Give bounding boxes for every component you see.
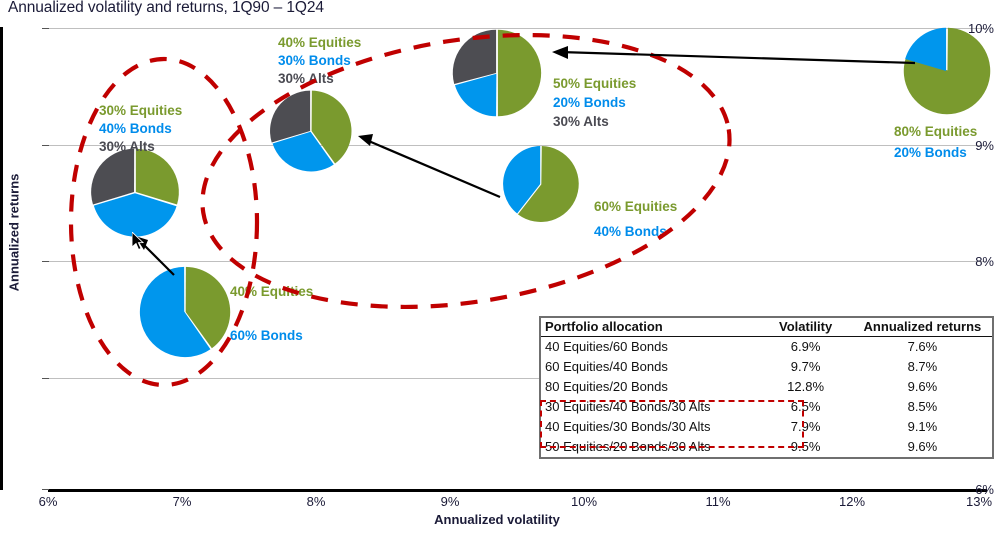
cell-returns: 8.7% [853,357,992,377]
arrow-to-50-20-30-pie [552,46,915,63]
cell-volatility: 9.5% [758,437,852,457]
y-axis-line [0,27,3,490]
cell-returns: 9.6% [853,437,992,457]
pie-50-20-30-label-bonds: 20% Bonds [553,94,626,113]
pie-40-30-30-label-bonds: 30% Bonds [278,52,351,71]
x-axis-line [48,489,987,492]
chart-root: Annualized volatility and returns, 1Q90 … [0,0,994,537]
pie-svg [501,144,581,224]
x-tick-label-6pct: 6% [39,494,58,509]
pie-30-equities-40-bonds-30-alts[interactable] [88,145,182,239]
y-tick-8pct [42,261,49,262]
pie-svg [88,145,182,239]
cell-allocation: 40 Equities/30 Bonds/30 Alts [541,417,758,437]
pie-80-20-label-bonds: 20% Bonds [894,144,967,163]
allocation-table: Portfolio allocation Volatility Annualiz… [541,318,992,457]
mouse-cursor [132,232,146,252]
table-row[interactable]: 60 Equities/40 Bonds 9.7% 8.7% [541,357,992,377]
x-tick-label-13pct: 13% [966,494,992,509]
pie-80-equities-20-bonds[interactable] [901,25,993,117]
x-tick-label-9pct: 9% [441,494,460,509]
pie-30-40-30-label-equities: 30% Equities [99,102,182,121]
table-row[interactable]: 30 Equities/40 Bonds/30 Alts 6.5% 8.5% [541,397,992,417]
pie-40-60-label-equities: 40% Equities [230,283,313,302]
table-header-row: Portfolio allocation Volatility Annualiz… [541,318,992,337]
table-body: 40 Equities/60 Bonds 6.9% 7.6% 60 Equiti… [541,337,992,457]
x-axis-title: Annualized volatility [0,512,994,527]
pie-40-30-30-label-equities: 40% Equities [278,34,361,53]
pie-50-equities-20-bonds-30-alts[interactable] [451,27,543,119]
cell-volatility: 12.8% [758,377,852,397]
table-header: Portfolio allocation Volatility Annualiz… [541,318,992,337]
pie-30-40-30-label-alts: 30% Alts [99,138,155,157]
pie-60-40-label-equities: 60% Equities [594,198,677,217]
pie-60-40-label-bonds: 40% Bonds [594,223,667,242]
cell-allocation: 50 Equities/20 Bonds/30 Alts [541,437,758,457]
slice-equities [498,30,541,116]
table-row[interactable]: 50 Equities/20 Bonds/30 Alts 9.5% 9.6% [541,437,992,457]
cell-returns: 7.6% [853,337,992,357]
pie-40-60-label-bonds: 60% Bonds [230,327,303,346]
pie-40-30-30-label-alts: 30% Alts [278,70,334,89]
pie-80-20-label-equities: 80% Equities [894,123,977,142]
pie-svg [451,27,543,119]
cell-volatility: 9.7% [758,357,852,377]
cell-returns: 9.6% [853,377,992,397]
y-tick-9pct [42,145,49,146]
y-axis-title: Annualized returns [7,123,22,343]
portfolio-allocation-table: Portfolio allocation Volatility Annualiz… [539,316,994,459]
table-row[interactable]: 40 Equities/30 Bonds/30 Alts 7.9% 9.1% [541,417,992,437]
cell-allocation: 60 Equities/40 Bonds [541,357,758,377]
x-tick-label-10pct: 10% [571,494,597,509]
cell-allocation: 30 Equities/40 Bonds/30 Alts [541,397,758,417]
pie-svg [268,88,354,174]
pie-50-20-30-label-equities: 50% Equities [553,75,636,94]
x-tick-label-7pct: 7% [173,494,192,509]
pie-60-equities-40-bonds[interactable] [501,144,581,224]
cell-returns: 8.5% [853,397,992,417]
pie-40-equities-30-bonds-30-alts[interactable] [268,88,354,174]
pie-svg [901,25,993,117]
col-header-allocation: Portfolio allocation [541,318,758,337]
cell-returns: 9.1% [853,417,992,437]
cell-volatility: 7.9% [758,417,852,437]
cell-allocation: 40 Equities/60 Bonds [541,337,758,357]
x-tick-label-11pct: 11% [705,494,730,509]
pie-40-equities-60-bonds[interactable] [137,264,233,360]
pie-30-40-30-label-bonds: 40% Bonds [99,120,172,139]
col-header-returns: Annualized returns [853,318,992,337]
table-row[interactable]: 80 Equities/20 Bonds 12.8% 9.6% [541,377,992,397]
cell-volatility: 6.5% [758,397,852,417]
gridline-8pct [48,261,986,262]
y-tick-label-8pct: 8% [950,254,994,269]
chart-title: Annualized volatility and returns, 1Q90 … [8,0,324,17]
y-tick-7pct [42,378,49,379]
table-row[interactable]: 40 Equities/60 Bonds 6.9% 7.6% [541,337,992,357]
x-tick-label-12pct: 12% [839,494,865,509]
x-tick-label-8pct: 8% [307,494,326,509]
cell-allocation: 80 Equities/20 Bonds [541,377,758,397]
y-tick-6pct [42,489,49,490]
pie-svg [137,264,233,360]
y-tick-10pct [42,28,49,29]
pie-50-20-30-label-alts: 30% Alts [553,113,609,132]
col-header-volatility: Volatility [758,318,852,337]
arrow-to-40-30-30-pie [358,134,500,197]
cell-volatility: 6.9% [758,337,852,357]
